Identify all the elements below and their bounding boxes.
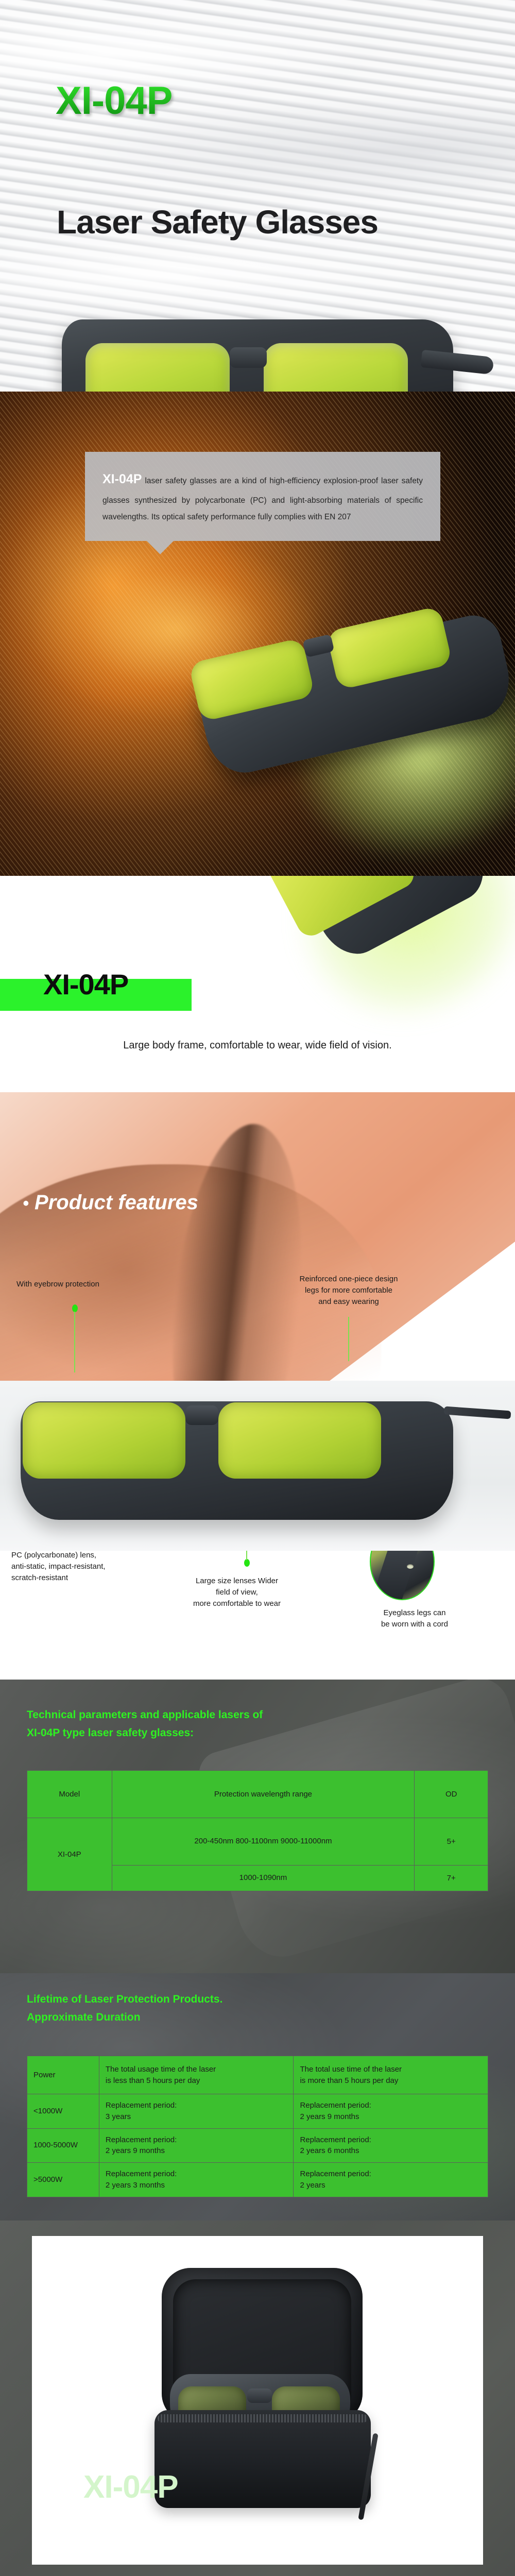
lifetime-header-less-than-5h: The total usage time of the laser is les… [99, 2056, 294, 2094]
product-features-section: • Product features With eyebrow protecti… [0, 1092, 515, 1680]
features-lens-left [23, 1402, 185, 1479]
features-product-photo [0, 1381, 515, 1551]
badge-caption: Large body frame, comfortable to wear, w… [0, 1040, 515, 1052]
table-row: XI-04P 200-450nm 800-1100nm 9000-11000nm… [27, 1818, 488, 1866]
hero-section: XI-04P Laser Safety Glasses [0, 0, 515, 392]
table-header-od: OD [415, 1771, 488, 1818]
lifetime-cell-less-3: Replacement period: 2 years 3 months [99, 2163, 294, 2197]
badge-model-text: XI-04P [43, 968, 128, 1001]
lifetime-header-power: Power [27, 2056, 99, 2094]
table-row: 1000-5000W Replacement period: 2 years 9… [27, 2128, 488, 2163]
feature-dot-large-lenses [244, 1559, 250, 1567]
description-paragraph: XI-04Plaser safety glasses are a kind of… [102, 466, 423, 526]
lifetime-cell-more-2: Replacement period: 2 years 6 months [294, 2128, 488, 2163]
hero-product-photo [0, 319, 515, 392]
feature-label-large-lenses: Large size lenses Wider field of view, m… [193, 1577, 281, 1608]
case-zipper [158, 2414, 368, 2422]
lifetime-cell-more-1: Replacement period: 2 years 9 months [294, 2094, 488, 2129]
description-callout-box: XI-04Plaser safety glasses are a kind of… [85, 452, 440, 541]
glasses-lens-left [85, 343, 230, 392]
technical-parameters-section: Technical parameters and applicable lase… [0, 1680, 515, 1973]
features-temple [444, 1406, 511, 1419]
feature-callout-cord-legs: Eyeglass legs can be worn with a cord [355, 1607, 474, 1630]
table-cell-od-2: 7+ [415, 1866, 488, 1891]
feature-callout-eyebrow-protection: With eyebrow protection [16, 1279, 140, 1290]
feature-callout-large-lenses: Large size lenses Wider field of view, m… [154, 1575, 319, 1609]
technical-parameters-table: Model Protection wavelength range OD XI-… [27, 1770, 488, 1891]
feature-leader-one-piece-legs [348, 1317, 349, 1361]
table-cell-wavelengths-1: 200-450nm 800-1100nm 9000-11000nm [112, 1818, 415, 1866]
lifetime-header-more-than-5h: The total use time of the laser is more … [294, 2056, 488, 2094]
description-model-label: XI-04P [102, 472, 142, 486]
lifetime-section: Lifetime of Laser Protection Products. A… [0, 1973, 515, 2221]
table-cell-model-value: XI-04P [27, 1818, 112, 1891]
packaging-section: XI-04P M1221ZCQ [0, 2221, 515, 2576]
product-features-title: • Product features [23, 1191, 198, 1214]
lifetime-cell-power-3: >5000W [27, 2163, 99, 2197]
feature-label-cord-legs: Eyeglass legs can be worn with a cord [381, 1608, 448, 1629]
feature-callout-one-piece-legs: Reinforced one-piece design legs for mor… [264, 1274, 434, 1307]
hero-model-title: XI-04P [56, 78, 172, 123]
feature-leader-eyebrow-protection [74, 1312, 75, 1372]
glasses-lens-right [264, 343, 408, 392]
lifetime-cell-more-3: Replacement period: 2 years [294, 2163, 488, 2197]
table-cell-wavelengths-2: 1000-1090nm [112, 1866, 415, 1891]
case-body [154, 2410, 371, 2508]
feature-label-eyebrow-protection: With eyebrow protection [16, 1280, 99, 1289]
table-header-row: Power The total usage time of the laser … [27, 2056, 488, 2094]
feature-label-one-piece-legs: Reinforced one-piece design legs for mor… [300, 1275, 398, 1306]
description-section: XI-04Plaser safety glasses are a kind of… [0, 392, 515, 876]
badge-product-photo [233, 876, 515, 1039]
lifetime-cell-less-2: Replacement period: 2 years 9 months [99, 2128, 294, 2163]
table-header-row: Model Protection wavelength range OD [27, 1771, 488, 1818]
table-cell-od-1: 5+ [415, 1818, 488, 1866]
glasses-bridge [230, 347, 267, 368]
features-lens-right [218, 1402, 381, 1479]
feature-callout-pc-lens: PC (polycarbonate) lens, anti-static, im… [11, 1550, 156, 1583]
table-header-wavelength: Protection wavelength range [112, 1771, 415, 1818]
lifetime-cell-power-1: <1000W [27, 2094, 99, 2129]
description-body-text: laser safety glasses are a kind of high-… [102, 477, 423, 521]
cord-hole [407, 1564, 414, 1569]
hero-subtitle: Laser Safety Glasses [57, 203, 378, 241]
bullet-icon: • [23, 1194, 29, 1213]
table-row: <1000W Replacement period: 3 years Repla… [27, 2094, 488, 2129]
feature-label-pc-lens: PC (polycarbonate) lens, anti-static, im… [11, 1551, 106, 1582]
technical-parameters-heading: Technical parameters and applicable lase… [27, 1706, 356, 1742]
lifetime-table: Power The total usage time of the laser … [27, 2056, 488, 2197]
packaging-photo-card: XI-04P [32, 2236, 483, 2565]
glasses-illustration [62, 319, 453, 392]
feature-dot-eyebrow-protection [72, 1304, 78, 1312]
lifetime-cell-power-2: 1000-5000W [27, 2128, 99, 2163]
table-header-model: Model [27, 1771, 112, 1818]
model-badge-section: XI-04P Large body frame, comfortable to … [0, 876, 515, 1092]
product-page: XI-04P Laser Safety Glasses XI-04Plaser … [0, 0, 515, 2576]
lifetime-cell-less-1: Replacement period: 3 years [99, 2094, 294, 2129]
case-watermark-text: XI-04P [83, 2469, 178, 2505]
table-row: >5000W Replacement period: 2 years 3 mon… [27, 2163, 488, 2197]
product-features-title-text: Product features [35, 1191, 198, 1214]
case-bridge [247, 2388, 272, 2403]
features-bridge [185, 1405, 218, 1425]
lifetime-heading: Lifetime of Laser Protection Products. A… [27, 1991, 356, 2026]
